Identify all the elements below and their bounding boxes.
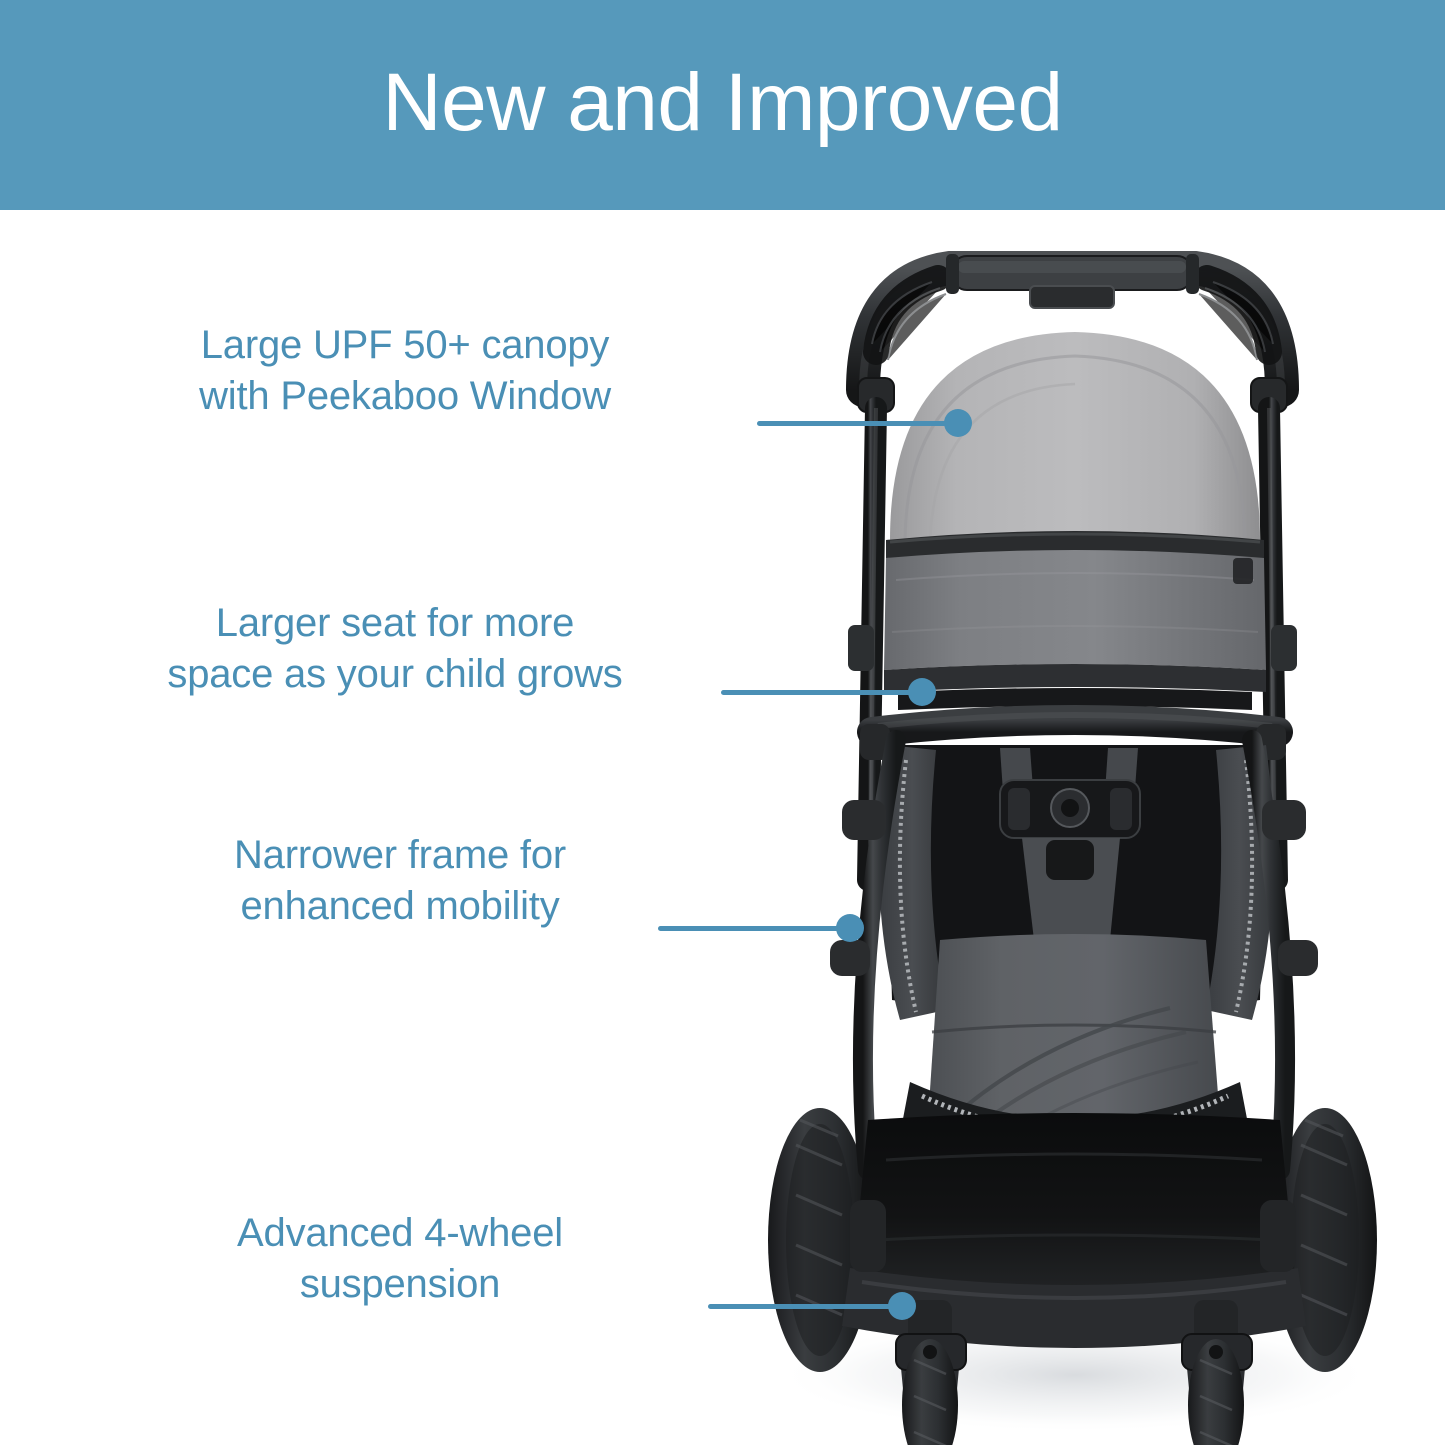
leader-line-seat <box>721 690 917 695</box>
header-banner: New and Improved <box>0 0 1445 210</box>
page-title: New and Improved <box>382 62 1062 144</box>
callout-label-frame: Narrower frame for enhanced mobility <box>150 830 650 932</box>
canopy-lower-edge <box>884 664 1266 710</box>
frame-hinge-right <box>1271 625 1297 671</box>
leader-line-canopy <box>757 421 953 426</box>
callout-label-seat: Larger seat for more space as your child… <box>90 598 700 700</box>
harness-crotch-buckle <box>1046 840 1094 880</box>
leader-dot-seat <box>908 678 936 706</box>
leader-dot-wheels <box>888 1292 916 1320</box>
leader-dot-canopy <box>944 409 972 437</box>
canopy-brand-tag <box>1233 558 1253 584</box>
frame-hinge-left <box>848 625 874 671</box>
handle-logo-plate <box>1030 286 1114 308</box>
axle-cover-left <box>850 1200 886 1272</box>
leader-line-wheels <box>708 1304 900 1309</box>
leader-line-frame <box>658 926 848 931</box>
axle-cover-right <box>1260 1200 1296 1272</box>
leader-dot-frame <box>836 914 864 942</box>
infographic-page: New and Improved <box>0 0 1445 1445</box>
canopy <box>884 332 1266 670</box>
callout-label-canopy: Large UPF 50+ canopy with Peekaboo Windo… <box>100 320 710 422</box>
callout-label-wheels: Advanced 4-wheel suspension <box>160 1208 640 1310</box>
